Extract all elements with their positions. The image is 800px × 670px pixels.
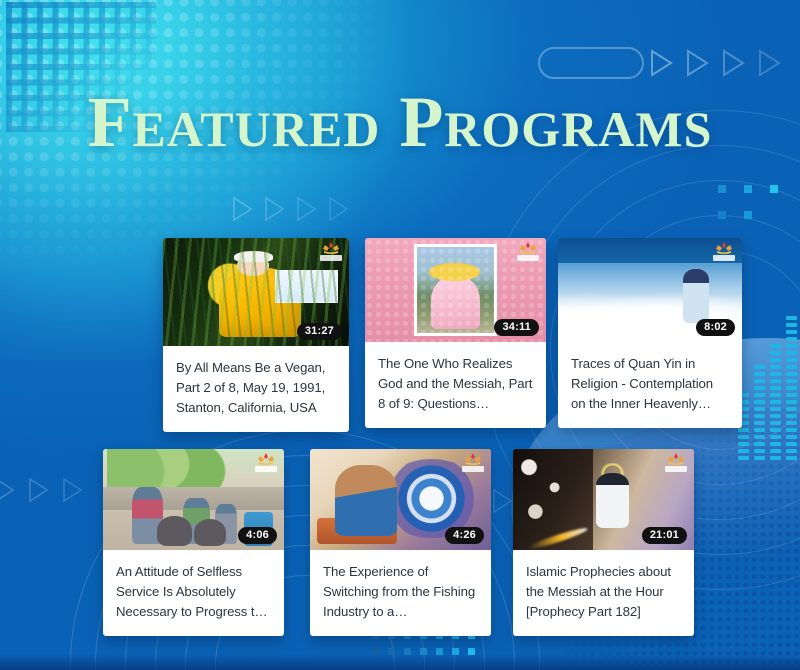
program-card[interactable]: 31:27 By All Means Be a Vegan, Part 2 of… bbox=[163, 238, 349, 432]
channel-logo-icon bbox=[515, 241, 541, 263]
program-card[interactable]: 21:01 Islamic Prophecies about the Messi… bbox=[513, 449, 694, 636]
page-title: Featured Programs bbox=[0, 86, 800, 158]
channel-logo-icon bbox=[460, 452, 486, 474]
play-triangle-icon bbox=[264, 196, 286, 222]
program-thumbnail[interactable]: 8:02 bbox=[558, 238, 742, 342]
program-thumbnail[interactable]: 31:27 bbox=[163, 238, 349, 346]
program-title: The Experience of Switching from the Fis… bbox=[310, 550, 491, 636]
play-triangle-icon bbox=[492, 488, 514, 514]
equalizer-bars-right bbox=[738, 316, 797, 460]
program-title: Islamic Prophecies about the Messiah at … bbox=[513, 550, 694, 636]
play-triangle-icon bbox=[232, 196, 254, 222]
play-triangle-icon bbox=[328, 196, 350, 222]
duration-badge: 21:01 bbox=[642, 527, 687, 544]
square-dots-top-right bbox=[718, 185, 778, 219]
play-triangle-icon bbox=[0, 477, 16, 503]
play-triangle-icon bbox=[758, 49, 780, 75]
program-title: The One Who Realizes God and the Messiah… bbox=[365, 342, 546, 428]
channel-logo-icon bbox=[318, 241, 344, 263]
featured-programs-banner: Featured Programs 31:27 By All Mean bbox=[0, 0, 800, 670]
play-triangle-icon bbox=[28, 477, 50, 503]
play-triangle-icon bbox=[62, 477, 84, 503]
duration-badge: 4:26 bbox=[445, 527, 484, 544]
pill-outline-decoration bbox=[538, 47, 644, 79]
program-thumbnail[interactable]: 4:06 bbox=[103, 449, 284, 550]
play-triangle-icon bbox=[296, 196, 318, 222]
channel-logo-icon bbox=[253, 452, 279, 474]
program-card[interactable]: 8:02 Traces of Quan Yin in Religion - Co… bbox=[558, 238, 742, 428]
program-title: An Attitude of Selfless Service Is Absol… bbox=[103, 550, 284, 636]
program-title: Traces of Quan Yin in Religion - Contemp… bbox=[558, 342, 742, 428]
program-card[interactable]: 34:11 The One Who Realizes God and the M… bbox=[365, 238, 546, 428]
program-thumbnail[interactable]: 34:11 bbox=[365, 238, 546, 342]
program-thumbnail[interactable]: 21:01 bbox=[513, 449, 694, 550]
play-triangle-icon bbox=[650, 49, 672, 75]
program-title: By All Means Be a Vegan, Part 2 of 8, Ma… bbox=[163, 346, 349, 432]
duration-badge: 31:27 bbox=[297, 323, 342, 340]
channel-logo-icon bbox=[663, 452, 689, 474]
program-card[interactable]: 4:06 An Attitude of Selfless Service Is … bbox=[103, 449, 284, 636]
channel-logo-icon bbox=[711, 241, 737, 263]
duration-badge: 4:06 bbox=[238, 527, 277, 544]
program-card[interactable]: 4:26 The Experience of Switching from th… bbox=[310, 449, 491, 636]
duration-badge: 34:11 bbox=[494, 319, 539, 336]
duration-badge: 8:02 bbox=[696, 319, 735, 336]
play-triangle-icon bbox=[686, 49, 708, 75]
play-triangle-icon bbox=[722, 49, 744, 75]
program-thumbnail[interactable]: 4:26 bbox=[310, 449, 491, 550]
bottom-edge-shade bbox=[0, 654, 800, 670]
